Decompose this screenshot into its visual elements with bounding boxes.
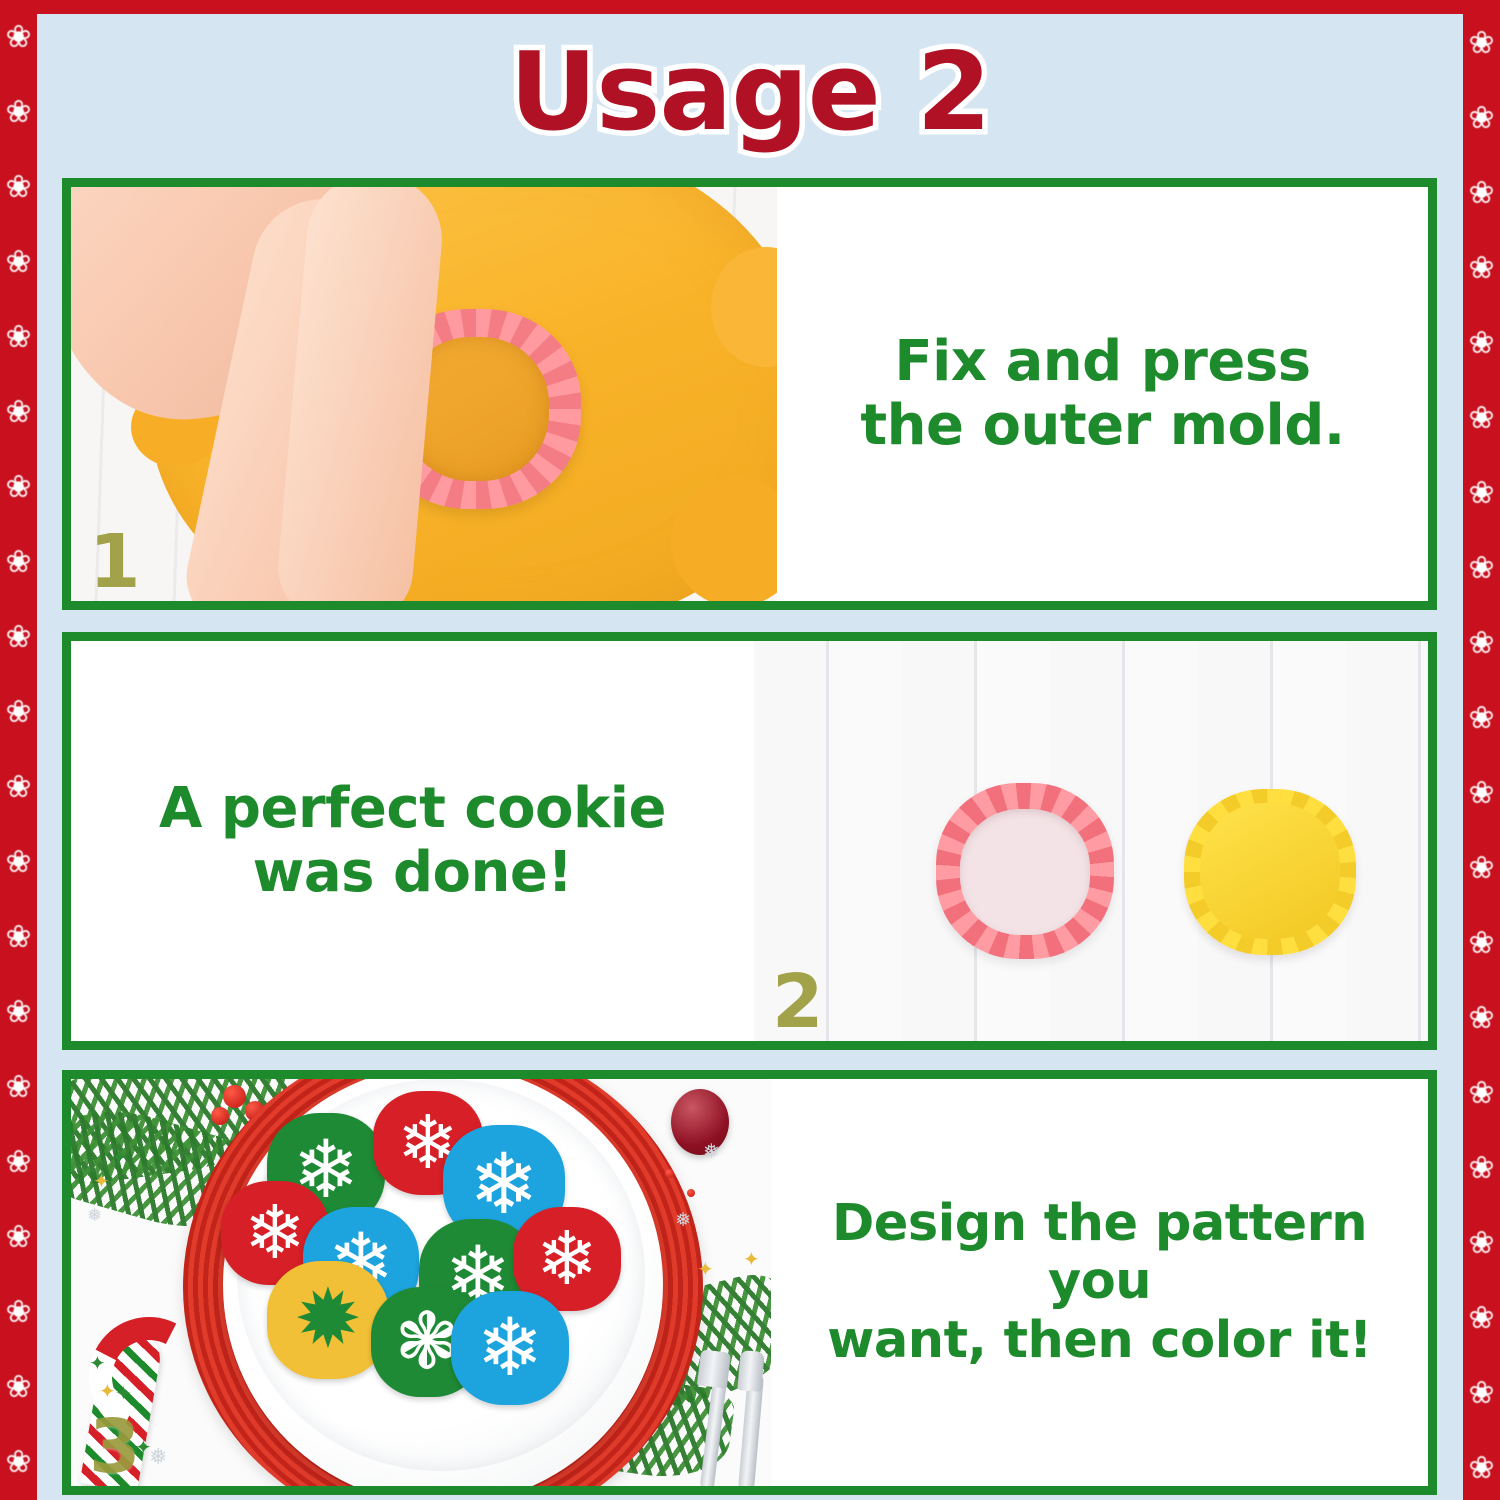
caption-line: Design the pattern you — [785, 1195, 1414, 1311]
step-2-photo: 2 — [754, 641, 1428, 1041]
page-title: Usage 2 — [37, 30, 1463, 155]
snowflake-icon: ❀ — [4, 1072, 34, 1102]
snowflake-icon: ❀ — [1467, 403, 1497, 433]
confetti-dot — [687, 1189, 695, 1197]
usage-step-3-panel: ❄ ❄ ❄ ❄ ❄ ❄ ❄ ✹ ❃ ❄ ✦ ✦ — [62, 1070, 1437, 1495]
usage-step-1-panel: 1 Fix and press the outer mold. — [62, 178, 1437, 610]
knife-blade — [737, 1350, 764, 1392]
star-confetti-icon: ✦ — [743, 1247, 760, 1271]
snowflake-icon: ❀ — [1467, 1453, 1497, 1483]
snowflake-confetti-icon: ❅ — [149, 1445, 167, 1470]
step-1-photo: 1 — [71, 187, 777, 601]
snowflake-icon: ❀ — [4, 472, 34, 502]
snowflake-icon: ❀ — [1467, 1303, 1497, 1333]
snowflake-icon: ❀ — [1467, 253, 1497, 283]
confetti-dot — [665, 1169, 674, 1178]
snowflake-icon: ❀ — [4, 22, 34, 52]
star-confetti-icon: ✦ — [111, 1145, 128, 1169]
top-red-bar — [0, 0, 1500, 14]
snowflake-icon: ❀ — [4, 847, 34, 877]
christmas-ornament — [671, 1089, 729, 1155]
snowflake-icon: ❀ — [1467, 853, 1497, 883]
snowflake-confetti-icon: ❅ — [703, 1139, 720, 1163]
step-number: 2 — [772, 965, 824, 1039]
snowflake-cookie: ❄ — [451, 1291, 569, 1405]
step-number: 1 — [89, 525, 141, 599]
step-number: 3 — [89, 1410, 141, 1484]
snowflake-icon: ❀ — [4, 772, 34, 802]
left-snowflake-border: ❀ ❀ ❀ ❀ ❀ ❀ ❀ ❀ ❀ ❀ ❀ ❀ ❀ ❀ ❀ ❀ ❀ ❀ ❀ ❀ — [0, 0, 37, 1500]
step-2-caption-text: A perfect cookie was done! — [145, 777, 680, 905]
snowflake-icon: ❀ — [1467, 28, 1497, 58]
snowflake-icon: ❀ — [4, 547, 34, 577]
star-confetti-icon: ✦ — [115, 1381, 132, 1405]
snowflake-icon: ❀ — [4, 397, 34, 427]
snowflake-icon: ❀ — [4, 622, 34, 652]
snowflake-icon: ❀ — [4, 922, 34, 952]
star-confetti-icon: ✦ — [89, 1351, 106, 1375]
snowflake-icon: ❀ — [1467, 328, 1497, 358]
snowflake-icon: ❀ — [1467, 478, 1497, 508]
snowflake-confetti-icon: ❅ — [675, 1209, 691, 1231]
snowflake-icon: ❀ — [1467, 1153, 1497, 1183]
snowflake-icon: ❀ — [1467, 778, 1497, 808]
step-3-photo: ❄ ❄ ❄ ❄ ❄ ❄ ❄ ✹ ❃ ❄ ✦ ✦ — [71, 1079, 771, 1486]
step-1-caption: Fix and press the outer mold. — [777, 187, 1428, 601]
flower-pattern-cookie: ✹ — [267, 1261, 389, 1379]
snowflake-icon: ❀ — [1467, 553, 1497, 583]
snowflake-icon: ❀ — [4, 247, 34, 277]
snowflake-icon: ❀ — [4, 997, 34, 1027]
snowflake-icon: ❀ — [4, 1447, 34, 1477]
snowflake-icon: ❀ — [4, 322, 34, 352]
snowflake-icon: ❀ — [1467, 178, 1497, 208]
snowflake-icon: ❀ — [4, 1222, 34, 1252]
star-confetti-icon: ✦ — [93, 1169, 110, 1193]
snowflake-icon: ❀ — [1467, 1003, 1497, 1033]
snowflake-icon: ❀ — [1467, 928, 1497, 958]
caption-line: the outer mold. — [860, 394, 1344, 458]
snowflake-icon: ❀ — [4, 697, 34, 727]
caption-line: Fix and press — [860, 330, 1344, 394]
snowflake-icon: ❀ — [4, 97, 34, 127]
holly-berry — [211, 1107, 229, 1125]
snowflake-icon: ❀ — [4, 1372, 34, 1402]
right-snowflake-border: ❀ ❀ ❀ ❀ ❀ ❀ ❀ ❀ ❀ ❀ ❀ ❀ ❀ ❀ ❀ ❀ ❀ ❀ ❀ ❀ — [1463, 0, 1500, 1500]
snowflake-icon: ❀ — [4, 172, 34, 202]
usage-step-2-panel: A perfect cookie was done! 2 — [62, 632, 1437, 1050]
snowflake-icon: ❀ — [1467, 103, 1497, 133]
star-confetti-icon: ✦ — [697, 1257, 714, 1281]
fork-tines — [697, 1349, 731, 1388]
step-3-caption: Design the pattern you want, then color … — [771, 1079, 1428, 1486]
cut-dough-cookie-surface — [1200, 803, 1340, 939]
snowflake-icon: ❀ — [1467, 1078, 1497, 1108]
caption-line: want, then color it! — [785, 1312, 1414, 1370]
snowflake-icon: ❀ — [1467, 1378, 1497, 1408]
step-2-caption: A perfect cookie was done! — [71, 641, 754, 1041]
step-1-caption-text: Fix and press the outer mold. — [846, 330, 1358, 458]
content-stage: Usage 2 1 Fix and press the outer mold. — [37, 14, 1463, 1500]
snowflake-confetti-icon: ❅ — [87, 1205, 102, 1226]
snowflake-icon: ❀ — [1467, 703, 1497, 733]
cookie-cutter-opening — [960, 809, 1090, 935]
snowflake-icon: ❀ — [1467, 628, 1497, 658]
snowflake-icon: ❀ — [4, 1297, 34, 1327]
caption-line: was done! — [159, 841, 666, 905]
star-confetti-icon: ✦ — [99, 1379, 116, 1403]
holly-berry — [223, 1085, 246, 1108]
step-3-caption-text: Design the pattern you want, then color … — [771, 1195, 1428, 1369]
caption-line: A perfect cookie — [159, 777, 666, 841]
snowflake-icon: ❀ — [4, 1147, 34, 1177]
christmas-frame: ❀ ❀ ❀ ❀ ❀ ❀ ❀ ❀ ❀ ❀ ❀ ❀ ❀ ❀ ❀ ❀ ❀ ❀ ❀ ❀ … — [0, 0, 1500, 1500]
snowflake-icon: ❀ — [1467, 1228, 1497, 1258]
